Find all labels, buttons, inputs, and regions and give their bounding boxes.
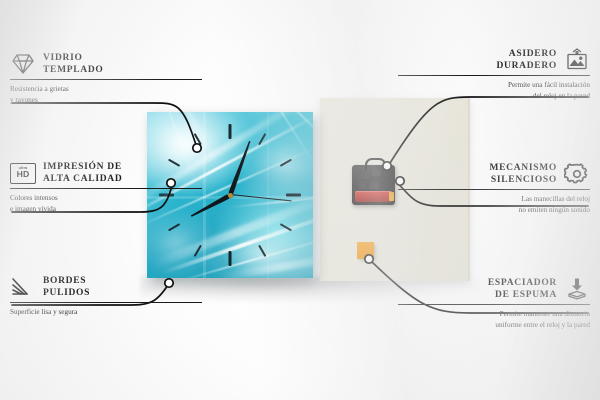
callout-title: ASIDERO DURADERO (497, 48, 558, 72)
callout-vidrio-templado: VIDRIO TEMPLADO Resistencia a grietas y … (10, 52, 202, 105)
callout-desc-line1: Superficie lisa y segura (10, 307, 202, 317)
callout-divider (10, 79, 202, 80)
callout-divider (398, 304, 590, 305)
callout-divider (10, 188, 202, 189)
callout-desc-line2: e imagen vívida (10, 204, 202, 214)
callout-desc-line1: Permite mantener una distancia (398, 309, 590, 319)
clock-movement-module (352, 165, 395, 205)
callout-header: ultra HD IMPRESIÓN DE ALTA CALIDAD (10, 161, 202, 185)
callout-desc-line1: Colores intensos (10, 193, 202, 203)
gear-icon (564, 162, 590, 186)
infographic-canvas: VIDRIO TEMPLADO Resistencia a grietas y … (0, 0, 600, 400)
callout-header: VIDRIO TEMPLADO (10, 52, 202, 76)
callout-desc-line2: uniforme entre el reloj y la pared (398, 320, 590, 330)
hour-marker-6 (229, 251, 232, 266)
artwork-panel-seam (203, 112, 206, 278)
callout-bordes-pulidos: BORDES PULIDOS Superficie lisa y segura (10, 275, 202, 318)
aa-battery (355, 191, 392, 202)
diamond-icon (10, 52, 36, 76)
clock-center-cap (228, 193, 233, 198)
callout-header: ESPACIADOR DE ESPUMA (398, 277, 590, 301)
foam-spacer-piece (357, 242, 374, 259)
hour-marker-12 (229, 124, 232, 139)
callout-title: MECANISMO SILENCIOSO (489, 162, 557, 186)
movement-part (369, 182, 379, 189)
callout-header: ASIDERO DURADERO (398, 48, 590, 72)
movement-part (357, 170, 369, 179)
callout-espaciador-de-espuma: ESPACIADOR DE ESPUMA Permite mantener un… (398, 277, 590, 330)
picture-hanger-icon (564, 48, 590, 72)
callout-desc-line2: del reloj en la pared (398, 91, 590, 101)
foam-spacer-icon (564, 277, 590, 301)
callout-desc-line2: y rayones (10, 95, 202, 105)
callout-desc-line1: Resistencia a grietas (10, 84, 202, 94)
callout-desc-line1: Permite una fácil instalación (398, 80, 590, 90)
callout-asidero-duradero: ASIDERO DURADERO Permite una fácil insta… (398, 48, 590, 101)
hour-marker-3 (286, 194, 301, 197)
artwork-panel-seam (267, 112, 269, 278)
callout-title: BORDES PULIDOS (43, 275, 90, 299)
ultra-hd-icon: ultra HD (10, 163, 36, 184)
callout-title: IMPRESIÓN DE ALTA CALIDAD (43, 161, 122, 185)
callout-divider (398, 189, 590, 190)
battery-terminal (389, 192, 394, 201)
movement-part (358, 181, 366, 189)
callout-header: BORDES PULIDOS (10, 275, 202, 299)
callout-mecanismo-silencioso: MECANISMO SILENCIOSO Las manecillas del … (398, 162, 590, 215)
callout-desc-line2: no emiten ningún sonido (398, 205, 590, 215)
callout-title: ESPACIADOR DE ESPUMA (488, 277, 557, 301)
callout-impresion-alta-calidad: ultra HD IMPRESIÓN DE ALTA CALIDAD Color… (10, 161, 202, 214)
polished-edges-icon (10, 275, 36, 299)
callout-divider (398, 75, 590, 76)
callout-header: MECANISMO SILENCIOSO (398, 162, 590, 186)
callout-divider (10, 302, 202, 303)
movement-part (372, 169, 381, 176)
callout-title: VIDRIO TEMPLADO (43, 52, 104, 76)
callout-desc-line1: Las manecillas del reloj (398, 194, 590, 204)
